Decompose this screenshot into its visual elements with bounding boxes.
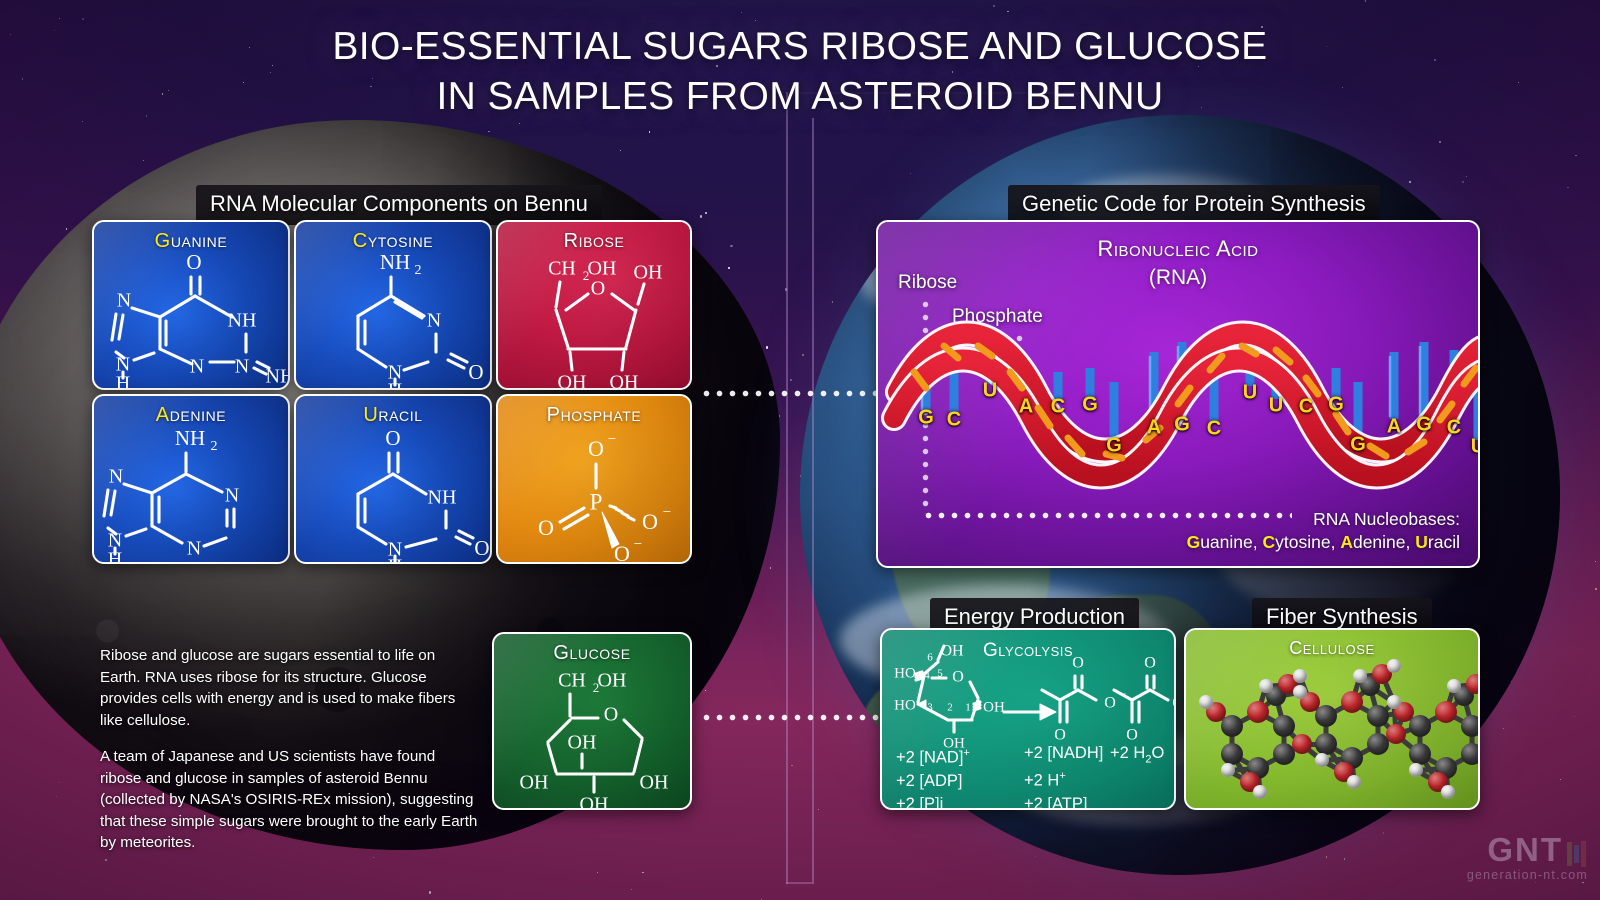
svg-text:O: O [186, 250, 201, 274]
glycolysis-right-column: +2 H2O [1110, 742, 1164, 771]
cellulose-atom [1221, 743, 1243, 765]
svg-text:OH: OH [588, 258, 617, 280]
svg-text:O: O [1144, 655, 1156, 672]
svg-text:O: O [588, 436, 604, 461]
svg-text:N: N [109, 466, 123, 488]
rna-legend: RNA Nucleobases: Guanine, Cytosine, Aden… [1187, 508, 1460, 554]
molecule-adenine: NH 2 N N N N H [94, 396, 288, 562]
glycolysis-left-2: +2 [ADP] [896, 770, 970, 793]
cellulose-atom [1293, 685, 1307, 699]
molecule-cytosine: NH 2 N N H O [296, 222, 490, 388]
molecule-guanine: O NH N N N N H [94, 222, 288, 388]
svg-text:N: N [225, 485, 239, 507]
svg-text:O: O [468, 360, 483, 384]
cellulose-atom [1292, 734, 1312, 754]
rna-nucleobase-letter: G [1174, 414, 1190, 437]
svg-text:NH: NH [380, 250, 410, 274]
molecule-uracil: O NH N H O [296, 396, 490, 562]
description-paragraph-2: A team of Japanese and US scientists hav… [100, 746, 478, 854]
svg-text:1: 1 [965, 702, 971, 714]
legend-base-initial: A [1340, 532, 1353, 552]
svg-text:2: 2 [947, 702, 953, 714]
section-header-genetic-code: Genetic Code for Protein Synthesis [1008, 185, 1380, 225]
cellulose-atom [1273, 715, 1295, 737]
cellulose-atom [1341, 691, 1363, 713]
watermark-sub: generation-nt.com [1467, 868, 1588, 882]
cellulose-atom [1386, 724, 1406, 744]
svg-text:CH: CH [548, 258, 576, 280]
cellulose-atom [1409, 763, 1423, 777]
panel-rna[interactable]: Ribonucleic Acid (RNA) Ribose Phosphate [876, 220, 1480, 568]
card-guanine[interactable]: Guanine O NH N N N N [92, 220, 290, 390]
svg-text:O: O [1072, 655, 1084, 672]
glycolysis-mid-1: +2 [NADH] [1024, 742, 1103, 765]
card-phosphate[interactable]: Phosphate O − P O O − O − [496, 394, 692, 564]
title-line-2: IN SAMPLES FROM ASTEROID BENNU [0, 72, 1600, 122]
page-title: BIO-ESSENTIAL SUGARS RIBOSE AND GLUCOSE … [0, 22, 1600, 122]
cellulose-atom [1253, 785, 1267, 799]
rna-nucleobase-letter: U [1243, 382, 1257, 405]
cellulose-atom [1315, 753, 1329, 767]
cellulose-atom [1461, 715, 1480, 737]
svg-text:−: − [608, 431, 616, 447]
svg-text:N: N [187, 538, 201, 560]
svg-text:OH: OH [983, 699, 1005, 715]
svg-text:P: P [590, 489, 603, 514]
legend-base-rest: ytosine [1275, 532, 1330, 552]
infographic-root: BIO-ESSENTIAL SUGARS RIBOSE AND GLUCOSE … [0, 0, 1600, 900]
title-line-1: BIO-ESSENTIAL SUGARS RIBOSE AND GLUCOSE [0, 22, 1600, 72]
cellulose-atom [1221, 715, 1243, 737]
svg-text:OH: OH [634, 262, 663, 284]
svg-text:−: − [663, 504, 671, 520]
guide-line-right [812, 118, 814, 884]
svg-text:OH: OH [598, 670, 627, 692]
svg-text:2: 2 [211, 439, 218, 454]
glycolysis-mid-2: +2 H+ [1024, 765, 1103, 793]
rna-nucleobase-letter: G [1106, 435, 1122, 458]
cellulose-atom [1387, 659, 1401, 673]
connector-ribose-to-rna [700, 390, 890, 397]
svg-text:OH: OH [640, 772, 669, 794]
svg-text:OH: OH [610, 372, 639, 390]
cellulose-atom [1409, 743, 1431, 765]
cellulose-atom [1353, 669, 1367, 683]
svg-text:HO: HO [894, 665, 916, 681]
legend-base-rest: uanine [1200, 532, 1253, 552]
rna-legend-bases: Guanine, Cytosine, Adenine, Uracil [1187, 531, 1460, 554]
rna-nucleobase-letter: A [1147, 417, 1161, 440]
panel-cellulose[interactable]: Cellulose [1184, 628, 1480, 810]
cellulose-atom [1347, 775, 1361, 789]
card-glucose[interactable]: Glucose CH 2 OH O OH OH OH OH [492, 632, 692, 810]
rna-nucleobase-letter: U [983, 380, 997, 403]
card-uracil[interactable]: Uracil O NH N H O [294, 394, 492, 564]
svg-text:−: − [634, 536, 642, 552]
svg-text:O: O [591, 278, 605, 300]
rna-nucleobase-letter: A [1019, 396, 1033, 419]
svg-text:O: O [642, 509, 658, 534]
cellulose-atom [1367, 705, 1389, 727]
legend-base-rest: denine [1353, 532, 1406, 552]
legend-base-initial: G [1187, 532, 1201, 552]
section-header-rna-components: RNA Molecular Components on Bennu [196, 185, 602, 225]
svg-text:N: N [427, 310, 441, 332]
svg-text:4: 4 [924, 670, 930, 682]
cellulose-ball-stick-model [1186, 630, 1478, 808]
rna-nucleobase-letter: G [1082, 394, 1098, 417]
glycolysis-right-1: +2 H2O [1110, 742, 1164, 771]
svg-text:6: 6 [927, 652, 933, 664]
svg-text:OH: OH [558, 372, 587, 390]
rna-nucleobase-letter: C [1447, 417, 1461, 440]
molecule-ribose: CH 2 OH O OH OH OH [498, 222, 690, 388]
svg-text:NH: NH [228, 310, 257, 332]
cellulose-atom [1387, 695, 1401, 709]
svg-text:NH: NH [428, 487, 457, 509]
svg-text:O: O [614, 541, 630, 564]
card-ribose[interactable]: Ribose CH 2 OH O OH OH OH [496, 220, 692, 390]
molecule-phosphate: O − P O O − O − [498, 396, 690, 562]
rna-legend-title: RNA Nucleobases: [1187, 508, 1460, 531]
legend-base-rest: racil [1428, 532, 1460, 552]
glycolysis-mid-3: +2 [ATP] [1024, 793, 1103, 811]
legend-base-initial: U [1415, 532, 1428, 552]
legend-base-initial: C [1263, 532, 1276, 552]
guide-line-bottom [786, 882, 812, 884]
svg-text:OH: OH [580, 794, 609, 810]
card-cytosine[interactable]: Cytosine NH 2 N N H O [294, 220, 492, 390]
cellulose-atom [1409, 715, 1431, 737]
svg-text:OH: OH [568, 732, 597, 754]
description-text: Ribose and glucose are sugars essential … [100, 645, 478, 854]
connector-glucose-to-glycolysis [700, 714, 890, 721]
watermark: GNT generation-nt.com [1467, 834, 1588, 882]
svg-text:O: O [474, 536, 489, 560]
rna-nucleobase-letter: G [1350, 434, 1366, 457]
cellulose-atom [1315, 733, 1337, 755]
rna-nucleobase-letter: C [1051, 396, 1065, 419]
rna-nucleobase-letter: G [1416, 414, 1432, 437]
card-adenine[interactable]: Adenine NH 2 N N N [92, 394, 290, 564]
svg-text:N: N [235, 356, 249, 378]
glycolysis-mid-column: +2 [NADH] +2 H+ +2 [ATP] [1024, 742, 1103, 810]
cellulose-atom [1315, 705, 1337, 727]
svg-text:NH: NH [175, 426, 205, 450]
svg-text:O: O [1172, 695, 1176, 712]
cellulose-atom [1441, 785, 1455, 799]
svg-text:NH: NH [266, 366, 290, 388]
svg-text:O: O [604, 704, 618, 726]
svg-text:OH: OH [520, 772, 549, 794]
cellulose-atom [1435, 701, 1457, 723]
cellulose-atom [1466, 674, 1480, 694]
watermark-main: GNT [1467, 834, 1588, 868]
description-paragraph-1: Ribose and glucose are sugars essential … [100, 645, 478, 731]
panel-glycolysis[interactable]: Glycolysis OH 6 5 O HO [880, 628, 1176, 810]
molecule-glucose: CH 2 OH O OH OH OH OH [494, 634, 690, 808]
cellulose-atom [1247, 701, 1269, 723]
cellulose-atom [1199, 695, 1213, 709]
rna-nucleobase-letter: U [1471, 436, 1480, 459]
svg-text:CH: CH [558, 670, 586, 692]
guide-line-left [786, 92, 788, 884]
cellulose-atom [1447, 679, 1461, 693]
rna-nucleobase-letter: C [1207, 418, 1221, 441]
svg-text:O: O [538, 515, 554, 540]
watermark-bars-icon [1567, 836, 1588, 868]
rna-nucleobase-letter: G [918, 407, 934, 430]
glycolysis-left-3: +2 [P]i [896, 793, 970, 811]
glycolysis-left-column: +2 [NAD]+ +2 [ADP] +2 [P]i [896, 742, 970, 810]
svg-text:O: O [385, 426, 400, 450]
rna-nucleobase-letter: A [1387, 416, 1401, 439]
rna-nucleobase-letter: C [1299, 396, 1313, 419]
cellulose-atom [1221, 763, 1235, 777]
rna-nucleobase-letter: U [1269, 395, 1283, 418]
rna-nucleobase-letter: C [947, 409, 961, 432]
svg-text:O: O [952, 669, 964, 686]
rna-nucleobase-letter: G [1328, 394, 1344, 417]
svg-text:O: O [1104, 695, 1116, 712]
svg-text:HO: HO [894, 697, 916, 713]
glycolysis-left-1: +2 [NAD]+ [896, 742, 970, 770]
svg-text:N: N [117, 290, 131, 312]
cellulose-atom [1259, 679, 1273, 693]
svg-text:2: 2 [415, 263, 422, 278]
cellulose-atom [1461, 743, 1480, 765]
svg-text:N: N [190, 356, 204, 378]
cellulose-atom [1293, 669, 1307, 683]
svg-text:3: 3 [927, 702, 933, 714]
